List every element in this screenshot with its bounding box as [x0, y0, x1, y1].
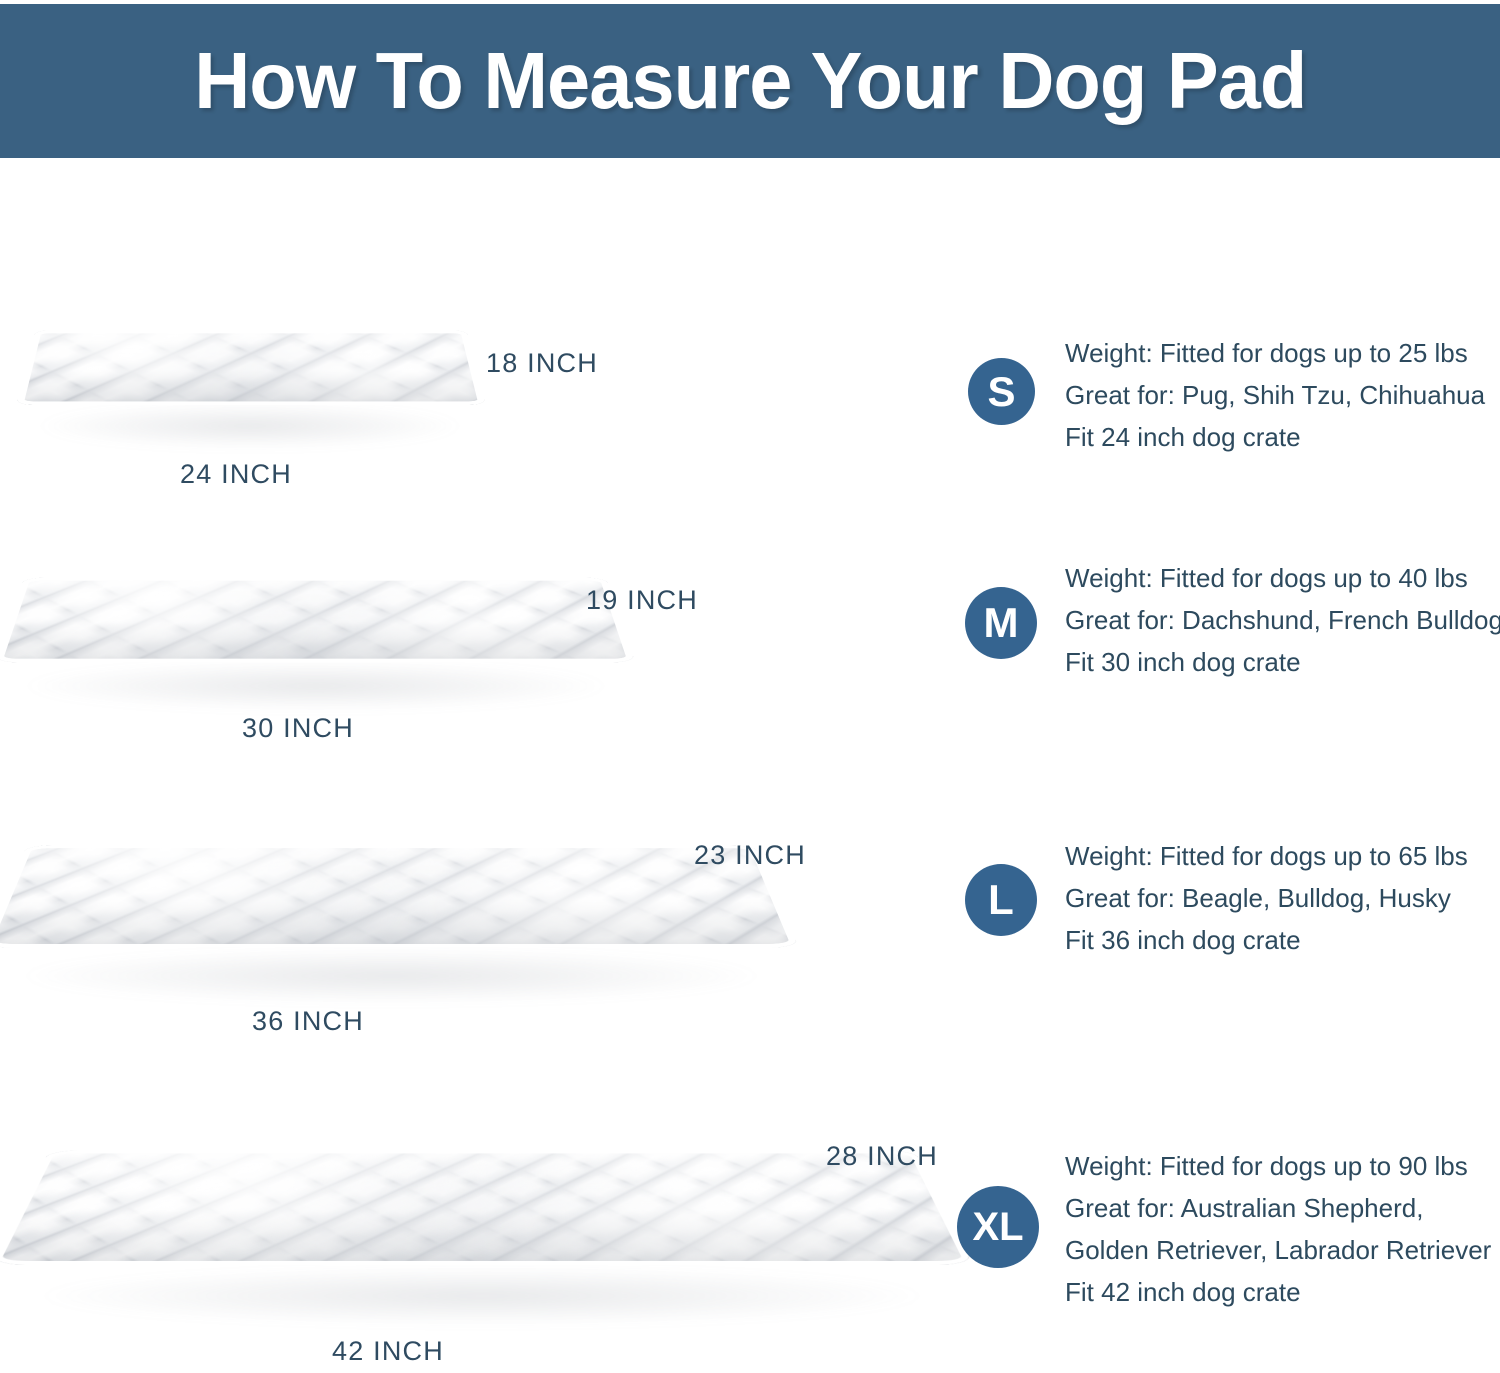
depth-label-xl: 28 INCH	[826, 1141, 938, 1172]
pad-shading	[0, 578, 635, 663]
size-weight-line: Weight: Fitted for dogs up to 25 lbs	[1065, 332, 1485, 374]
size-greatfor-line: Great for: Dachshund, French Bulldog	[1065, 599, 1500, 641]
size-crate-line: Fit 30 inch dog crate	[1065, 641, 1500, 683]
size-greatfor-line-2: Golden Retriever, Labrador Retriever	[1065, 1229, 1491, 1271]
pad-shading	[16, 330, 486, 405]
size-greatfor-line: Great for: Australian Shepherd,	[1065, 1187, 1491, 1229]
size-crate-line: Fit 42 inch dog crate	[1065, 1271, 1491, 1313]
depth-label-l: 23 INCH	[694, 840, 806, 871]
pad-illustration-s	[26, 286, 476, 446]
size-weight-line: Weight: Fitted for dogs up to 40 lbs	[1065, 557, 1500, 599]
pad-illustration-xl	[22, 1085, 942, 1323]
size-description-xl: Weight: Fitted for dogs up to 90 lbs Gre…	[1065, 1145, 1491, 1313]
size-crate-line: Fit 24 inch dog crate	[1065, 416, 1485, 458]
size-badge-s: S	[968, 358, 1035, 425]
size-description-m: Weight: Fitted for dogs up to 40 lbs Gre…	[1065, 557, 1500, 683]
size-description-s: Weight: Fitted for dogs up to 25 lbs Gre…	[1065, 332, 1485, 458]
page-title: How To Measure Your Dog Pad	[194, 41, 1306, 121]
pad-illustration-l	[6, 786, 776, 1001]
width-label-l: 36 INCH	[252, 1006, 364, 1037]
pad-surface-l	[0, 845, 799, 947]
size-greatfor-line: Great for: Pug, Shih Tzu, Chihuahua	[1065, 374, 1485, 416]
size-badge-m: M	[965, 587, 1037, 659]
size-weight-line: Weight: Fitted for dogs up to 65 lbs	[1065, 835, 1468, 877]
size-weight-line: Weight: Fitted for dogs up to 90 lbs	[1065, 1145, 1491, 1187]
width-label-m: 30 INCH	[242, 713, 354, 744]
size-description-l: Weight: Fitted for dogs up to 65 lbs Gre…	[1065, 835, 1468, 961]
pad-surface-s	[16, 330, 486, 405]
size-badge-l: L	[965, 864, 1037, 936]
width-label-s: 24 INCH	[180, 459, 292, 490]
header-banner: How To Measure Your Dog Pad	[0, 4, 1500, 158]
depth-label-s: 18 INCH	[486, 348, 598, 379]
size-badge-xl: XL	[957, 1186, 1039, 1268]
pad-surface-m	[0, 578, 635, 663]
pad-shading	[0, 845, 799, 947]
size-crate-line: Fit 36 inch dog crate	[1065, 919, 1468, 961]
pad-illustration-m	[10, 528, 620, 708]
width-label-xl: 42 INCH	[332, 1336, 444, 1367]
size-greatfor-line: Great for: Beagle, Bulldog, Husky	[1065, 877, 1468, 919]
depth-label-m: 19 INCH	[586, 585, 698, 616]
